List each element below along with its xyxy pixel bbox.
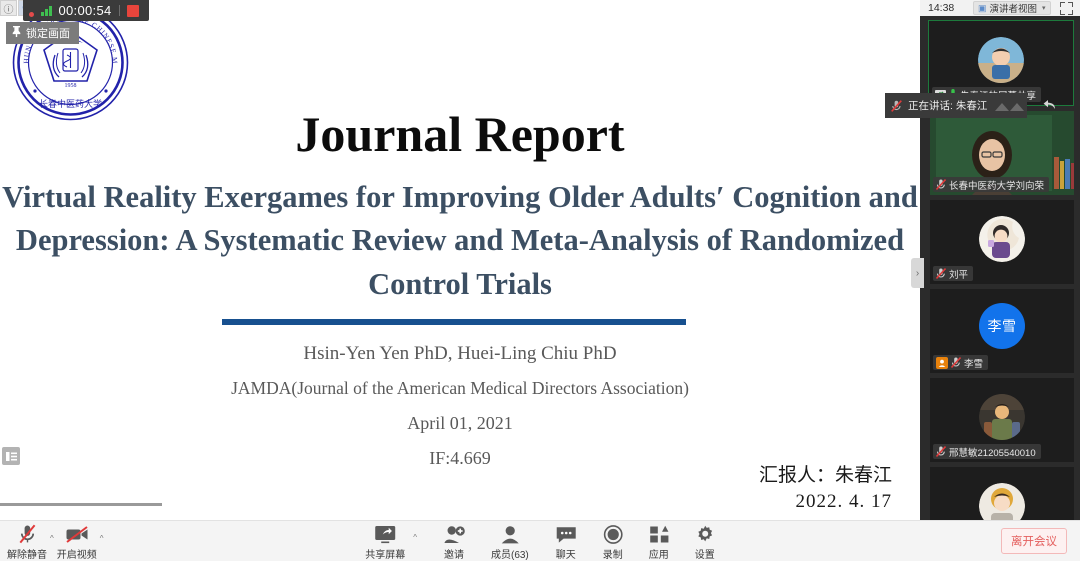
participants-icon [500,523,520,545]
mic-muted-icon [951,357,961,368]
host-badge-icon [936,357,948,369]
slide-bottom-rule [0,503,162,506]
participant-label: 长春中医药大学刘向荣 [933,177,1049,192]
speaking-banner-text: 正在讲话: 朱春江 [908,98,987,113]
chat-icon [555,523,577,545]
chevron-down-icon: ▾ [1042,4,1046,12]
invite-label: 邀请 [444,546,464,561]
participant-label: 刘平 [933,266,973,281]
shared-screen-slide: CHANGCHUN UNIVERSITY OF CHINESE MEDICINE… [0,0,920,520]
stop-recording-icon[interactable] [127,5,139,17]
avatar [978,37,1024,83]
mic-muted-icon [936,446,946,457]
toolbar-left-group: 解除静音 ^ 开启视频 ^ [6,523,104,561]
speaker-view-icon: ▣ [978,3,987,14]
participant-name: 李雪 [964,356,983,370]
participant-name: 长春中医药大学刘向荣 [949,178,1044,192]
slide-paper-title: Virtual Reality Exergames for Improving … [0,176,920,306]
fullscreen-icon[interactable] [1060,2,1073,15]
mute-toggle-label: 解除静音 [7,546,47,561]
chat-label: 聊天 [556,546,576,561]
audio-options-chevron-icon[interactable]: ^ [50,534,54,543]
slide-main-title: Journal Report [0,108,920,161]
paper-authors: Hsin-Yen Yen PhD, Huei-Ling Chiu PhD [0,343,920,365]
mic-muted-icon [891,100,902,112]
mute-toggle-button[interactable]: 解除静音 [6,523,48,561]
avatar [979,483,1025,520]
presenter-name: 汇报人：朱春江 [759,463,892,489]
apps-label: 应用 [649,546,669,561]
recording-status-bar: 00:00:54 [23,0,149,21]
record-button[interactable]: 录制 [603,523,623,561]
mic-muted-icon [936,179,946,190]
participant-label: 李雪 [933,355,988,370]
video-toggle-button[interactable]: 开启视频 [56,523,98,561]
active-speaker-banner: 正在讲话: 朱春江 [885,93,1027,118]
audio-wave-icon [995,100,1025,112]
collapse-panel-handle[interactable]: › [911,258,924,288]
pin-screen-tooltip: 锁定画面 [6,22,79,44]
recording-indicator [29,12,34,17]
invite-icon [443,523,465,545]
view-mode-label: 演讲者视图 [990,1,1038,15]
mic-muted-icon [19,523,36,545]
zoom-meeting-window: CHANGCHUN UNIVERSITY OF CHINESE MEDICINE… [0,0,1080,561]
meeting-toolbar: 解除静音 ^ 开启视频 ^ [0,520,1080,561]
participant-label: 邢慧敏21205540010 [933,444,1041,459]
participant-tile[interactable]: ▾ [930,467,1074,520]
back-arrow-icon[interactable] [1043,99,1056,113]
record-label: 录制 [603,546,623,561]
settings-label: 设置 [695,546,715,561]
presentation-date: 2022. 4. 17 [759,489,892,515]
recording-timer: 00:00:54 [59,3,112,18]
participants-label: 成员(63) [491,546,529,561]
divider [119,5,120,16]
share-screen-icon [374,523,396,545]
apps-button[interactable]: 应用 [649,523,669,561]
participant-tile[interactable]: 刘平 [930,200,1074,284]
participant-tile[interactable]: 邢慧敏21205540010 [930,378,1074,462]
view-mode-switch[interactable]: ▣ 演讲者视图 ▾ [973,1,1051,15]
participants-filmstrip[interactable]: 朱春江的屏幕共享 [920,16,1080,520]
apps-icon [649,523,669,545]
video-toggle-label: 开启视频 [57,546,97,561]
mic-muted-icon [936,268,946,279]
paper-publication-date: April 01, 2021 [0,413,920,434]
video-options-chevron-icon[interactable]: ^ [100,534,104,543]
settings-gear-icon [695,523,715,545]
share-screen-label: 共享屏幕 [365,546,405,561]
avatar: 李雪 [979,303,1025,349]
list-view-icon[interactable] [2,447,20,465]
leave-meeting-button[interactable]: 离开会议 [1001,528,1067,554]
participant-name: 刘平 [949,267,968,281]
info-icon[interactable]: ⓘ [0,0,17,16]
svg-text:1958: 1958 [65,83,77,89]
settings-button[interactable]: 设置 [695,523,715,561]
avatar [979,216,1025,262]
title-accent-rule [222,319,686,325]
participants-button[interactable]: 成员(63) [491,523,529,561]
participant-tile[interactable]: 长春中医药大学刘向荣 [930,111,1074,195]
paper-journal: JAMDA(Journal of the American Medical Di… [0,378,920,399]
participant-tile[interactable]: 李雪 李雪 [930,289,1074,373]
share-options-chevron-icon[interactable]: ^ [413,533,417,542]
video-off-icon [65,523,89,545]
pin-icon [12,26,21,40]
participant-name: 邢慧敏21205540010 [949,445,1036,459]
presenter-block: 汇报人：朱春江 2022. 4. 17 [759,463,892,514]
pin-tooltip-label: 锁定画面 [26,25,70,41]
invite-button[interactable]: 邀请 [443,523,465,561]
chat-button[interactable]: 聊天 [555,523,577,561]
system-clock: 14:38 [920,2,973,14]
share-screen-button[interactable]: 共享屏幕 [365,523,405,561]
record-icon [603,523,623,545]
meeting-top-bar: 14:38 ▣ 演讲者视图 ▾ [920,0,1080,16]
avatar [979,394,1025,440]
signal-strength-icon [41,5,52,16]
toolbar-center-group: 共享屏幕 ^ 邀请 [365,523,715,561]
